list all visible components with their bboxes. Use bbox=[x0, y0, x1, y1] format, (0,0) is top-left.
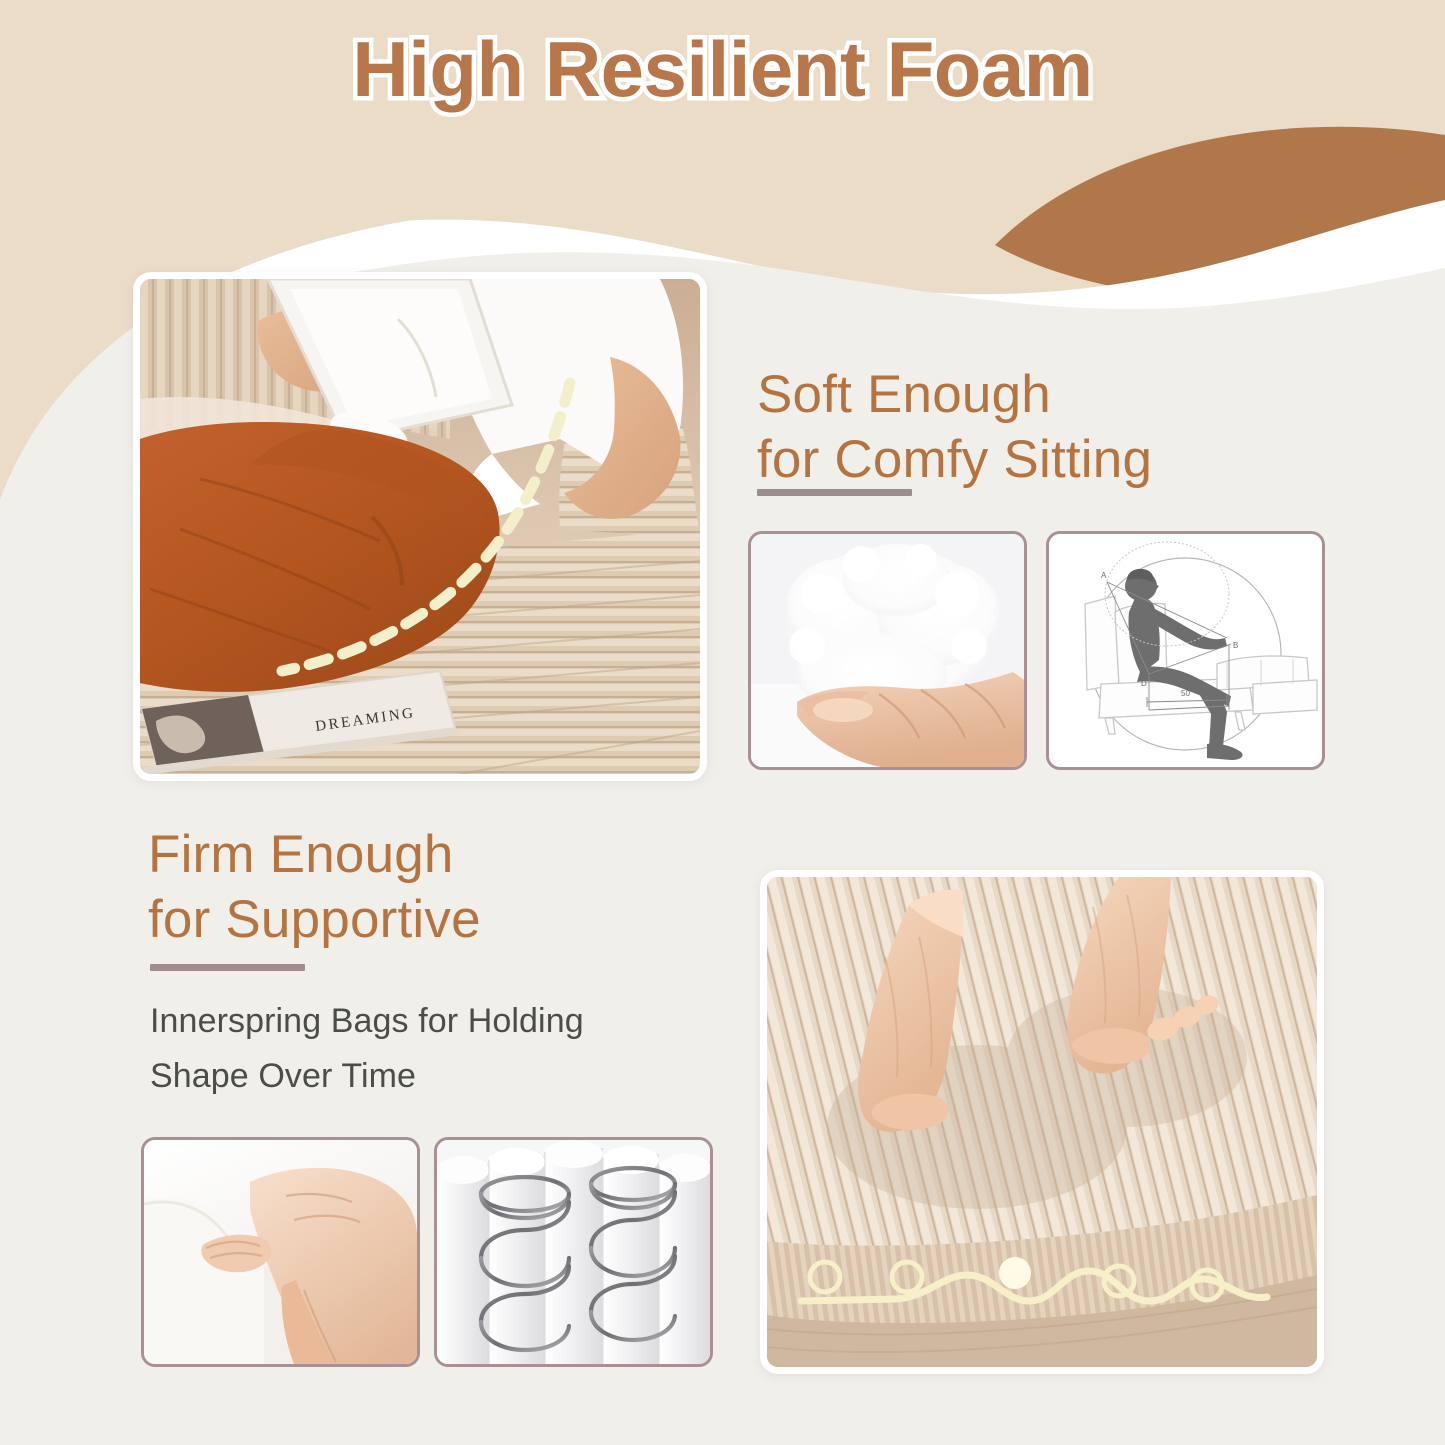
svg-text:A: A bbox=[1101, 571, 1107, 580]
photo-hand-pressing-foam bbox=[141, 1137, 420, 1367]
photo-inner bbox=[751, 534, 1024, 767]
photo-inner: A B C D 50 bbox=[1049, 534, 1322, 767]
photo-inner bbox=[144, 1140, 417, 1364]
svg-text:B: B bbox=[1233, 641, 1238, 650]
photo-person-reading-on-sofa: DREAMING bbox=[133, 272, 707, 781]
rule-soft-enough bbox=[757, 489, 912, 496]
page-title-wrap: High Resilient Foam bbox=[0, 24, 1445, 115]
photo-pocket-coil-springs bbox=[434, 1137, 713, 1367]
photo-inner: DREAMING bbox=[140, 279, 700, 774]
photo-inner bbox=[767, 877, 1317, 1367]
page-title: High Resilient Foam bbox=[352, 24, 1092, 115]
infographic-stage: High Resilient Foam bbox=[0, 0, 1445, 1445]
subtext-firm-enough: Innerspring Bags for Holding Shape Over … bbox=[150, 994, 760, 1104]
photo-hand-holding-fiber-fill bbox=[748, 531, 1027, 770]
photo-inner bbox=[437, 1140, 710, 1364]
heading-soft-enough: Soft Enough for Comfy Sitting bbox=[757, 363, 1377, 492]
rule-firm-enough bbox=[150, 964, 305, 971]
svg-text:C: C bbox=[1177, 623, 1183, 632]
svg-text:D: D bbox=[1141, 679, 1147, 688]
svg-text:50: 50 bbox=[1181, 689, 1190, 698]
photo-bare-feet-on-ribbed-cushion bbox=[760, 870, 1324, 1374]
heading-firm-enough: Firm Enough for Supportive bbox=[148, 823, 748, 952]
photo-seated-posture-diagram: A B C D 50 bbox=[1046, 531, 1325, 770]
